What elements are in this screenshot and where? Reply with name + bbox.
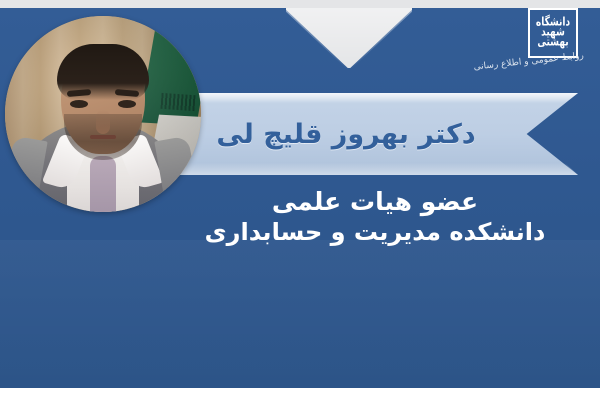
subtitle-block: عضو هیات علمی دانشکده مدیریت و حسابداری: [190, 186, 560, 248]
portrait-photo: [5, 16, 201, 212]
faculty-role: عضو هیات علمی: [190, 186, 560, 217]
faculty-department: دانشکده مدیریت و حسابداری: [190, 217, 560, 248]
person-shirt-placket: [90, 156, 116, 212]
university-logo-box: دانشگاه شهید بهشتی: [528, 8, 578, 58]
person-nose: [96, 110, 110, 134]
person-eye-right: [118, 100, 136, 108]
faculty-name: دکتر بهروز قلیچ لی: [150, 93, 542, 175]
person-mouth: [90, 135, 116, 139]
logo-line-3: بهشتی: [537, 37, 568, 49]
faculty-profile-card: دکتر بهروز قلیچ لی عضو هیات علمی دانشکده…: [0, 0, 600, 400]
person-eye-left: [70, 100, 88, 108]
university-logo: دانشگاه شهید بهشتی روابط عمومی و اطلاع ر…: [488, 6, 584, 86]
